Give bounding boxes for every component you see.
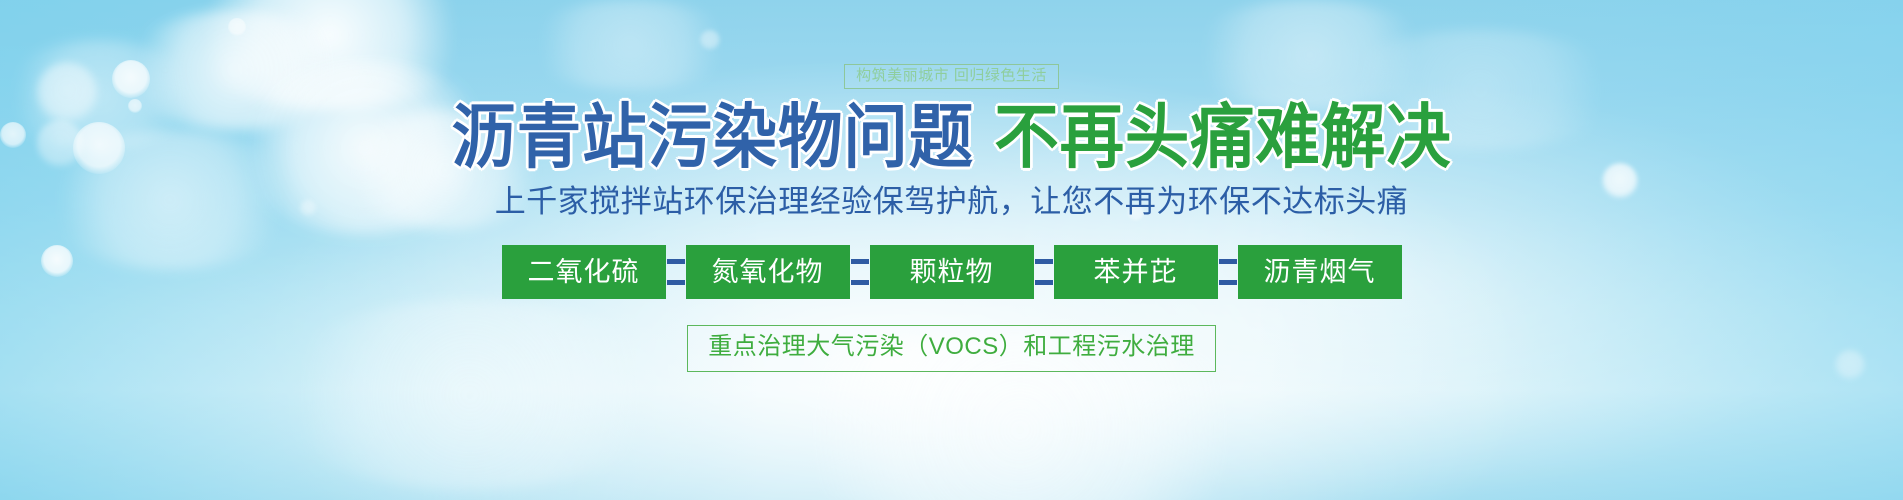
pill-nitrogen-oxides[interactable]: 氮氧化物 (686, 245, 850, 299)
footnote-box: 重点治理大气污染（VOCS）和工程污水治理 (687, 325, 1216, 372)
pill-separator (666, 245, 686, 299)
pill-asphalt-fumes[interactable]: 沥青烟气 (1238, 245, 1402, 299)
pill-separator (1218, 245, 1238, 299)
page-title: 沥青站污染物问题不再头痛难解决 (451, 102, 1451, 172)
headline-blue-text: 沥青站污染物问题 (451, 96, 974, 178)
pill-separator (1034, 245, 1054, 299)
pill-separator (850, 245, 870, 299)
banner-content: 构筑美丽城市 回归绿色生活 沥青站污染物问题不再头痛难解决 上千家搅拌站环保治理… (0, 0, 1903, 500)
headline-green-text: 不再头痛难解决 (994, 96, 1451, 178)
tagline-box: 构筑美丽城市 回归绿色生活 (844, 64, 1059, 89)
pill-sulfur-dioxide[interactable]: 二氧化硫 (502, 245, 666, 299)
pill-particulates[interactable]: 颗粒物 (870, 245, 1034, 299)
promo-banner: 构筑美丽城市 回归绿色生活 沥青站污染物问题不再头痛难解决 上千家搅拌站环保治理… (0, 0, 1903, 500)
pill-benzopyrene[interactable]: 苯并芘 (1054, 245, 1218, 299)
pollutant-pill-row: 二氧化硫 氮氧化物 颗粒物 苯并芘 沥青烟气 (502, 245, 1402, 299)
subtitle-text: 上千家搅拌站环保治理经验保驾护航，让您不再为环保不达标头痛 (495, 186, 1409, 217)
